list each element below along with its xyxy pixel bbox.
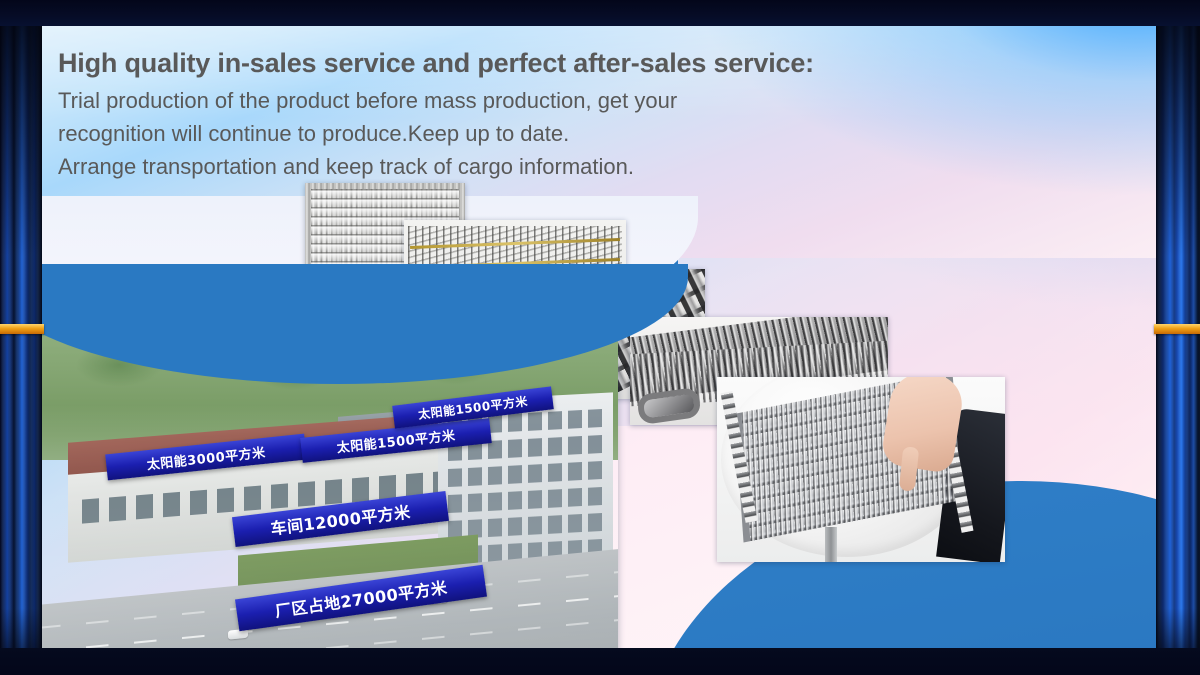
slide-root: High quality in-sales service and perfec… (0, 0, 1200, 675)
curtain-right-top-shadow (1156, 0, 1200, 257)
body-text: Trial production of the product before m… (58, 84, 1008, 183)
curtain-left-top-shadow (0, 0, 42, 257)
slide-stage: High quality in-sales service and perfec… (38, 26, 1162, 648)
body-line-2: recognition will continue to produce.Kee… (58, 117, 1008, 150)
photo-5-image (717, 377, 1005, 562)
page-title: High quality in-sales service and perfec… (58, 48, 1078, 79)
accent-rod-right (1154, 324, 1200, 334)
accent-rod-left (0, 324, 44, 334)
frame-top-bar (0, 0, 1200, 26)
photo-hand-on-mesh-belt (717, 377, 1005, 562)
frame-bottom-bar (0, 648, 1200, 675)
photo-5-table-stem (825, 527, 837, 562)
curtain-right (1156, 0, 1200, 675)
body-line-3: Arrange transportation and keep track of… (58, 150, 1008, 183)
body-line-1: Trial production of the product before m… (58, 84, 1008, 117)
curtain-left (0, 0, 42, 675)
